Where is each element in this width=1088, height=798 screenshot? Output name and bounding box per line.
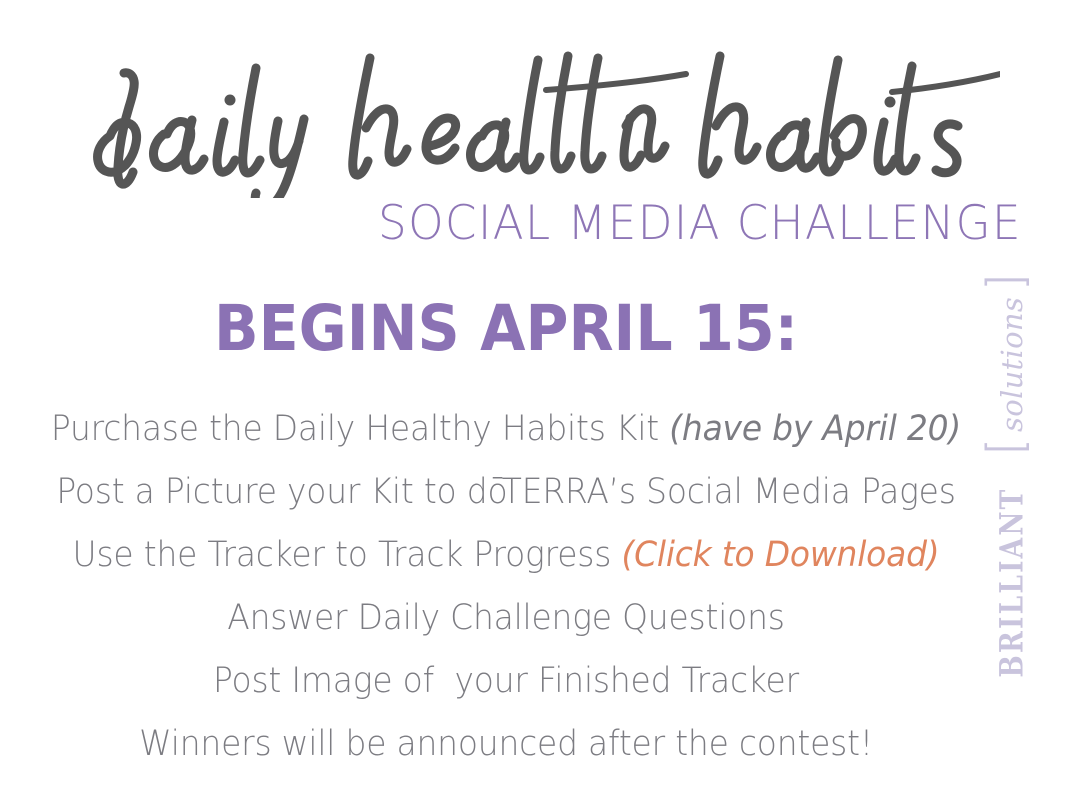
brilliant-solutions-logo: BRILLIANT [ solutions ]	[950, 296, 1070, 656]
instruction-line: Purchase the Daily Healthy Habits Kit (h…	[30, 398, 981, 461]
instruction-line: Answer Daily Challenge Questions	[30, 587, 981, 650]
click-to-download-link[interactable]: (Click to Download)	[621, 535, 939, 575]
poster-canvas: daily health habits	[0, 0, 1088, 798]
instruction-text: Purchase the Daily Healthy Habits Kit	[51, 409, 669, 449]
bracket-open-icon: [	[978, 440, 1036, 452]
brand-script-text: solutions	[995, 297, 1029, 432]
instruction-text: Post a Picture your Kit to dōTERRA’s Soc…	[56, 472, 955, 512]
instruction-line: Use the Tracker to Track Progress (Click…	[30, 524, 981, 587]
headline-script-title: daily health habits	[40, 18, 1000, 198]
instruction-text: Use the Tracker to Track Progress	[73, 535, 622, 575]
bracket-close-icon: ]	[978, 276, 1036, 288]
instruction-text: Winners will be announced after the cont…	[139, 724, 873, 764]
instruction-line: Post Image of your Finished Tracker	[30, 650, 981, 713]
instruction-line: Post a Picture your Kit to dōTERRA’s Soc…	[30, 461, 981, 524]
instruction-list: Purchase the Daily Healthy Habits Kit (h…	[0, 398, 1012, 776]
instruction-emphasis: (have by April 20)	[669, 409, 961, 449]
poster-subtitle: SOCIAL MEDIA CHALLENGE	[41, 196, 1022, 251]
begins-date-heading: BEGINS APRIL 15:	[35, 292, 976, 365]
instruction-text: Answer Daily Challenge Questions	[227, 598, 784, 638]
brand-name-text: BRILLIANT	[994, 487, 1031, 677]
instruction-line: Winners will be announced after the cont…	[30, 713, 981, 776]
instruction-text: Post Image of your Finished Tracker	[213, 661, 799, 701]
